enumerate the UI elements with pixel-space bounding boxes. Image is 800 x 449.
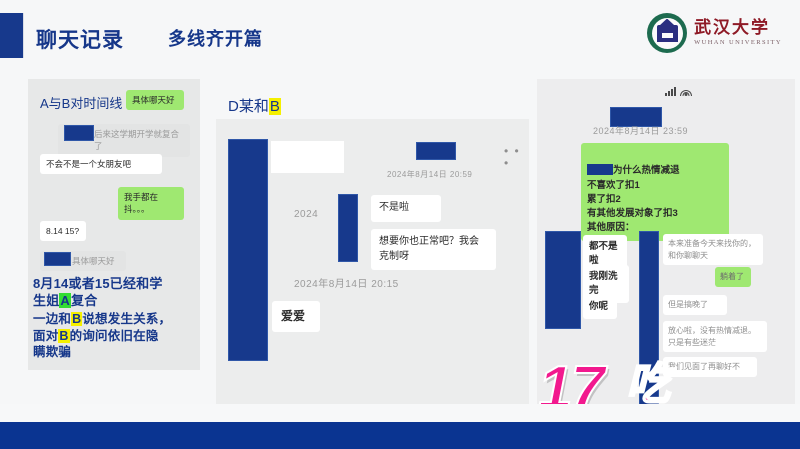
chat-screenshot-center: • • • 2024年8月14日 20:59 2024 不是啦 想要你也正常吧？… bbox=[216, 119, 529, 409]
left-panel-heading: A与B对时间线 bbox=[40, 93, 122, 112]
footer-spacer bbox=[0, 404, 800, 422]
redaction-block bbox=[545, 231, 581, 329]
university-crest-icon bbox=[647, 13, 687, 53]
redaction-block bbox=[338, 194, 358, 262]
chat-bubble: 想要你也正常吧？我会克制呀 bbox=[371, 229, 496, 270]
chat-bubble: 爱爱 bbox=[272, 301, 320, 332]
timestamp: 2024年8月14日 20:15 bbox=[294, 275, 399, 290]
redaction-block bbox=[228, 139, 268, 361]
annotation-line-1: 8月14或者15已经和学 生姐A复合 bbox=[33, 275, 208, 309]
redaction-block bbox=[416, 142, 456, 160]
footer-bar bbox=[0, 422, 800, 449]
more-options-icon[interactable]: • • • bbox=[504, 145, 529, 169]
status-icons bbox=[665, 87, 692, 96]
signal-bars-icon bbox=[665, 87, 676, 96]
chat-bubble: 不是啦 bbox=[371, 195, 441, 222]
chat-bubble: 但是搞晚了 bbox=[663, 295, 727, 315]
chat-bubble: 你呢 bbox=[583, 295, 617, 319]
chat-bubble: 具体哪天好 bbox=[126, 90, 184, 110]
highlight-b: B bbox=[58, 329, 69, 343]
timestamp: 2024年8月14日 23:59 bbox=[593, 124, 688, 137]
timestamp: 2024年8月14日 20:59 bbox=[387, 169, 472, 180]
highlight-b: B bbox=[71, 312, 82, 326]
highlight-a: A bbox=[59, 293, 71, 308]
annotation-line-2: 一边和B说想发生关系， 面对B的询问依旧在隐 瞒欺骗 bbox=[33, 311, 208, 361]
redaction-block bbox=[44, 252, 71, 266]
wifi-icon bbox=[680, 87, 692, 96]
university-name-cn: 武汉大学 bbox=[694, 20, 782, 37]
header-accent-square bbox=[0, 13, 24, 58]
page-subtitle: 多线齐开篇 bbox=[168, 25, 263, 51]
annotation-text: 8月14或者15已经和学 生姐A复合 一边和B说想发生关系， 面对B的询问依旧在… bbox=[33, 275, 208, 361]
chat-bubble: 8.14 15? bbox=[40, 221, 86, 241]
university-logo: 武汉大学 WUHAN UNIVERSITY bbox=[647, 13, 782, 53]
highlight-b: B bbox=[269, 98, 281, 115]
timestamp: 2024 bbox=[294, 209, 318, 220]
chat-bubble: 我手都在抖。。。 bbox=[118, 187, 184, 220]
university-name-en: WUHAN UNIVERSITY bbox=[694, 40, 782, 47]
chat-bubble: 不会不是一个女朋友吧 bbox=[40, 154, 162, 174]
redaction-block-inline bbox=[587, 164, 613, 175]
center-panel-heading: D某和B bbox=[228, 95, 281, 116]
slide-root: 聊天记录 多线齐开篇 武汉大学 WUHAN UNIVERSITY A与B对时间线… bbox=[0, 0, 800, 449]
chat-bubble: 放心啦，没有热情减退。 只是有些迷茫 bbox=[663, 321, 767, 352]
redaction-block bbox=[64, 125, 94, 141]
page-title: 聊天记录 bbox=[36, 24, 124, 54]
chat-bubble: 躺着了 bbox=[715, 267, 751, 287]
chat-bubble: 我们见面了再聊好不 bbox=[663, 357, 757, 377]
blank-overlay bbox=[271, 141, 344, 173]
chat-bubble: 本来准备今天来找你的， 和你聊聊天 bbox=[663, 234, 763, 265]
chat-bubble-green-list: 为什么热情减退 不喜欢了扣1 累了扣2 有其他发展对象了扣3 其他原因： bbox=[581, 143, 729, 241]
